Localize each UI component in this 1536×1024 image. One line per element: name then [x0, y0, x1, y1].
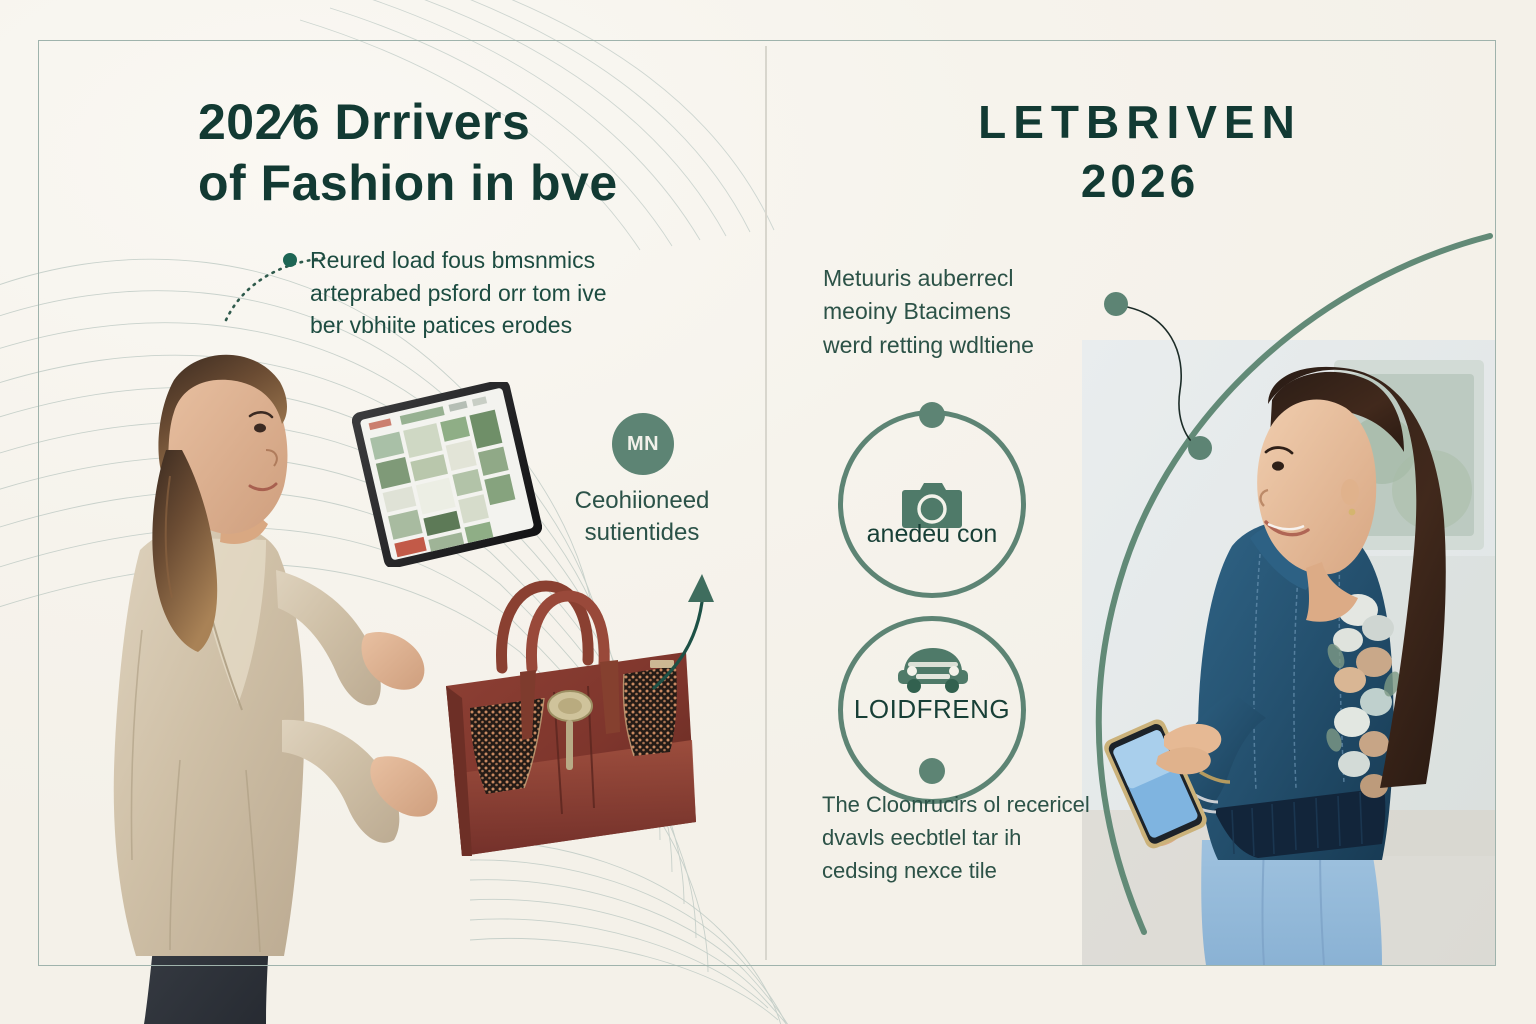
right-heading: LETBRIVEN 2026: [860, 95, 1420, 212]
right-copy-bottom-line1: The Cloonrucirs ol recericel: [822, 788, 1222, 821]
mid-badge[interactable]: MN Ceohiioneed sutientides: [612, 413, 674, 475]
badge-label-car: LOIDFRENG: [848, 694, 1016, 725]
mid-badge-text: MN: [627, 433, 659, 456]
left-heading: 202⁄6 Drrivers of Fashion in bve: [198, 92, 718, 214]
right-copy-bottom-line2: dvavls eecbtlel tar ih: [822, 821, 1222, 854]
mid-badge-label-line1: Ceohiioneed: [522, 485, 762, 517]
left-bullet-line1: Reured load fous bmsnmics: [310, 244, 710, 277]
right-copy-bottom: The Cloonrucirs ol recericel dvavls eecb…: [822, 788, 1222, 887]
right-heading-line1: LETBRIVEN: [860, 95, 1420, 150]
badge-label-car-text: LOIDFRENG: [854, 694, 1010, 724]
right-copy-top-line3: werd retting wdltiene: [823, 329, 1153, 362]
badge-label-camera-text: anedeu con: [867, 520, 998, 548]
infographic-canvas: 202⁄6 Drrivers of Fashion in bve Reured …: [0, 0, 1536, 1024]
bullet-dot-icon: [283, 253, 297, 267]
left-bullet-line3: ber vbhiite patices erodes: [310, 309, 710, 342]
right-copy-top-line2: meoiny Btacimens: [823, 295, 1153, 328]
badge-ring-node-bottom: [919, 758, 945, 784]
mid-badge-label: Ceohiioneed sutientides: [522, 485, 762, 550]
mid-badge-label-line2: sutientides: [522, 517, 762, 549]
left-bullet-block: Reured load fous bmsnmics arteprabed psf…: [310, 244, 710, 342]
left-heading-line2: of Fashion in bve: [198, 153, 718, 214]
right-heading-line2: 2026: [860, 150, 1420, 212]
left-bullet-line2: arteprabed psford orr tom ive: [310, 277, 710, 310]
panel-divider: [765, 46, 767, 960]
right-copy-top: Metuuris auberrecl meoiny Btacimens werd…: [823, 262, 1153, 362]
left-heading-line1: 202⁄6 Drrivers: [198, 92, 718, 153]
right-copy-top-line1: Metuuris auberrecl: [823, 262, 1153, 295]
mid-badge-circle: MN: [612, 413, 674, 475]
right-copy-bottom-line3: cedsing nexce tile: [822, 854, 1222, 887]
badge-ring-node-top: [919, 402, 945, 428]
badge-label-camera: anedeu con: [850, 520, 1014, 549]
car-icon: [894, 640, 972, 696]
